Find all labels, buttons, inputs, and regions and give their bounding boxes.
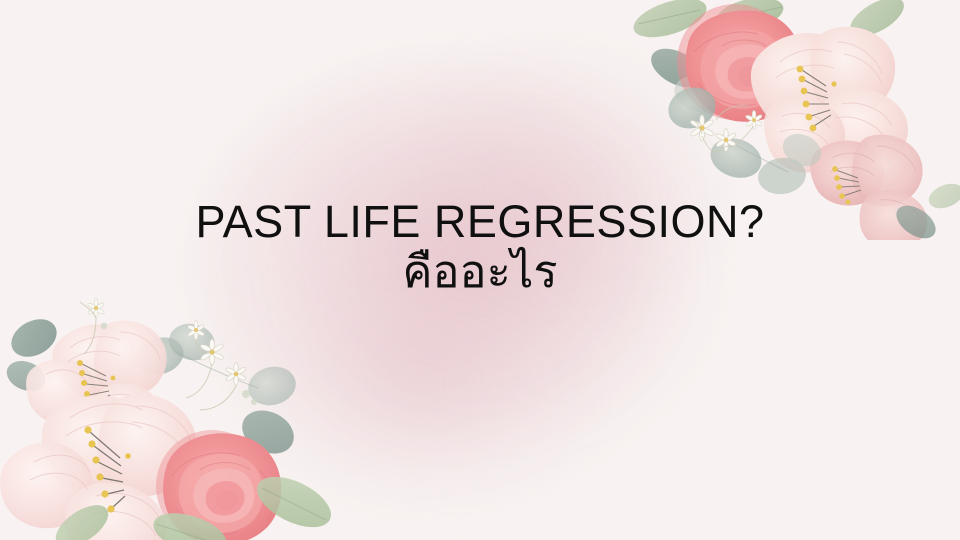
stamen-group-2 xyxy=(836,170,861,196)
daisy-group-bl xyxy=(80,298,247,410)
floral-decoration-bottom-left xyxy=(0,290,340,540)
leaf-group-front-bl xyxy=(49,466,339,540)
coral-rose-top-right xyxy=(677,4,803,122)
stamen-group xyxy=(802,70,831,126)
title-line-thai: คืออะไร xyxy=(0,248,960,297)
stamen-group-bl xyxy=(90,432,125,508)
headline-block: PAST LIFE REGRESSION? คืออะไร xyxy=(0,198,960,296)
coral-rose-bottom-left xyxy=(156,430,281,540)
leaf-group-back-bl xyxy=(2,312,301,462)
pale-blossom-large-bl xyxy=(0,394,196,540)
leaf-group-back xyxy=(630,0,910,118)
eucalyptus-group xyxy=(663,81,827,197)
center-wash-layer-3 xyxy=(250,300,580,510)
title-line-english: PAST LIFE REGRESSION? xyxy=(0,198,960,246)
pale-blossom-upper-bl xyxy=(26,321,167,445)
daisy-group xyxy=(690,106,763,152)
slide-canvas: PAST LIFE REGRESSION? คืออะไร xyxy=(0,0,960,540)
pale-blossom-large-top-right xyxy=(751,27,908,173)
